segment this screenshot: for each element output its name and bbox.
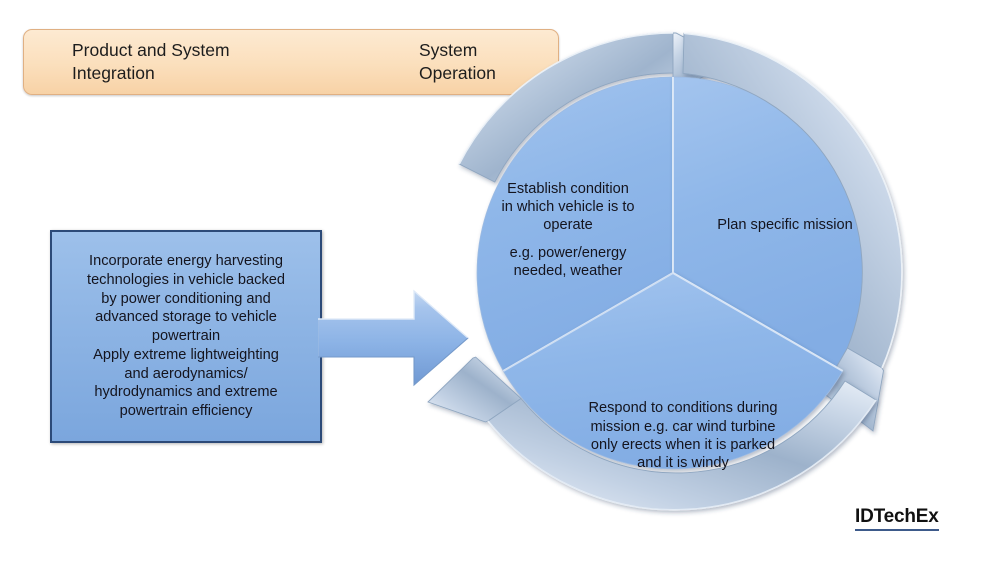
cycle-segment-2-text: Plan specific mission: [717, 216, 852, 234]
cycle-segment-3-label: Respond to conditions during mission e.g…: [548, 386, 818, 486]
cycle-segment-1-label: Establish condition in which vehicle is …: [468, 160, 668, 300]
idtechex-logo-text: IDTechEx: [855, 506, 939, 528]
cycle-segment-1-line2: e.g. power/energy needed, weather: [501, 244, 634, 281]
left-input-box: Incorporate energy harvesting technologi…: [50, 230, 322, 443]
header-label-product-and-system-integration: Product and System Integration: [72, 39, 230, 86]
idtechex-logo: IDTechEx: [855, 506, 939, 531]
cycle-segment-1-text: Establish condition in which vehicle is …: [501, 161, 634, 299]
idtechex-logo-underline: [855, 529, 939, 531]
cycle-segment-1-line1: Establish condition in which vehicle is …: [501, 181, 634, 234]
cycle-segment-2-label: Plan specific mission: [690, 200, 880, 250]
left-input-box-text: Incorporate energy harvesting technologi…: [81, 252, 291, 420]
cycle-segment-3-text: Respond to conditions during mission e.g…: [588, 399, 777, 473]
